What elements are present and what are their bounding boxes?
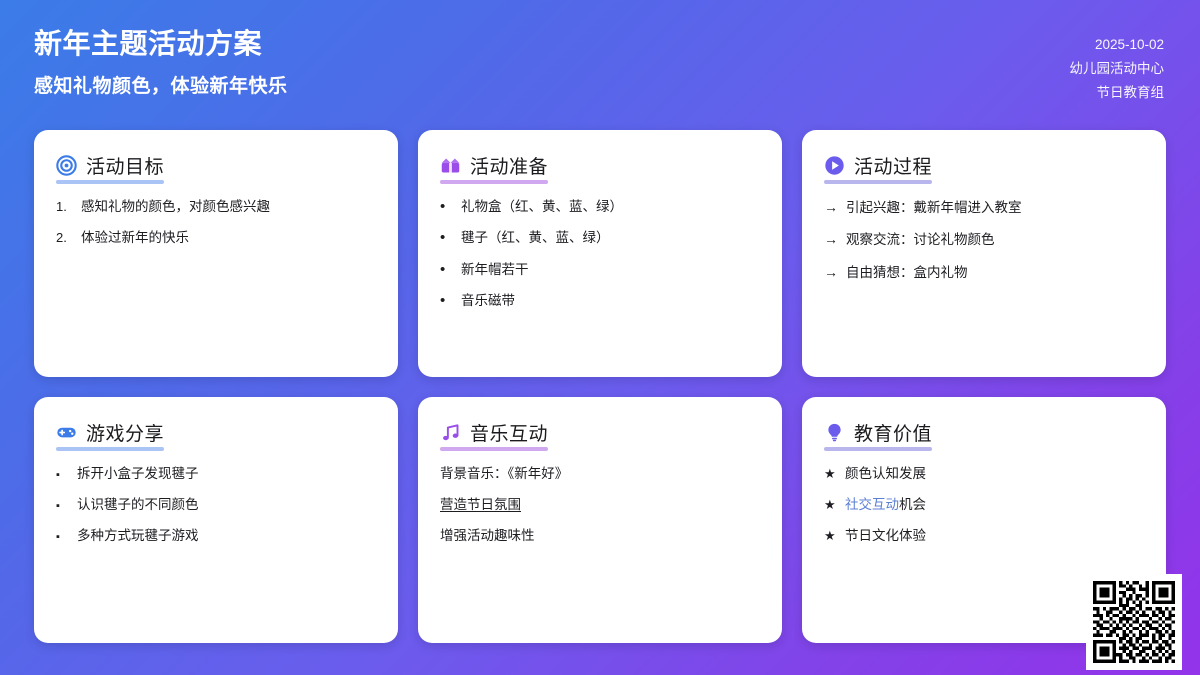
list-item-text: 感知礼物的颜色，对颜色感兴趣 <box>81 197 376 217</box>
card-title: 音乐互动 <box>470 419 548 446</box>
music-note-icon <box>440 422 461 443</box>
play-circle-icon <box>824 155 845 176</box>
list-item: 1.感知礼物的颜色，对颜色感兴趣 <box>56 197 376 217</box>
card-header: 活动准备 <box>440 152 548 184</box>
list-marker: • <box>440 230 453 245</box>
list-item: ▪认识毽子的不同颜色 <box>56 495 376 515</box>
list-item: 增强活动趣味性 <box>440 526 760 546</box>
lightbulb-icon <box>824 422 845 443</box>
list-item: •新年帽若干 <box>440 260 760 280</box>
list-marker: → <box>824 229 838 250</box>
qr-code[interactable] <box>1093 581 1175 663</box>
list-item-text: 礼物盒（红、黄、蓝、绿） <box>461 197 760 217</box>
list-item: •毽子（红、黄、蓝、绿） <box>440 228 760 248</box>
list-marker: 2. <box>56 228 73 248</box>
card-grid: 活动目标1.感知礼物的颜色，对颜色感兴趣2.体验过新年的快乐活动准备•礼物盒（红… <box>0 130 1200 675</box>
list-item-text: 拆开小盒子发现毽子 <box>77 464 376 484</box>
list-marker: → <box>824 262 838 283</box>
list-marker: ▪ <box>56 498 69 515</box>
list-item: •音乐磁带 <box>440 291 760 311</box>
target-icon <box>56 155 77 176</box>
list-item-text: 社交互动机会 <box>845 495 1144 515</box>
list-item-text: 自由猜想：盒内礼物 <box>846 263 1144 283</box>
card-item-list: •礼物盒（红、黄、蓝、绿）•毽子（红、黄、蓝、绿）•新年帽若干•音乐磁带 <box>440 197 760 311</box>
list-item: →自由猜想：盒内礼物 <box>824 262 1144 283</box>
list-item-text: 认识毽子的不同颜色 <box>77 495 376 515</box>
card-title: 游戏分享 <box>86 419 164 446</box>
card-item-list: ★颜色认知发展★社交互动机会★节日文化体验 <box>824 464 1144 547</box>
card-activity-prep: 活动准备•礼物盒（红、黄、蓝、绿）•毽子（红、黄、蓝、绿）•新年帽若干•音乐磁带 <box>418 130 782 377</box>
card-title: 教育价值 <box>854 419 932 446</box>
list-item-text-tail: 机会 <box>899 497 926 512</box>
gamepad-icon <box>56 422 77 443</box>
list-item: ★颜色认知发展 <box>824 464 1144 484</box>
gift-box-icon <box>440 155 461 176</box>
page-header: 新年主题活动方案 感知礼物颜色，体验新年快乐 2025-10-02 幼儿园活动中… <box>0 0 1200 130</box>
card-header: 游戏分享 <box>56 419 164 451</box>
list-item: ▪拆开小盒子发现毽子 <box>56 464 376 484</box>
card-music-interaction: 音乐互动背景音乐：《新年好》营造节日氛围增强活动趣味性 <box>418 397 782 644</box>
card-title: 活动过程 <box>854 152 932 179</box>
list-item-text: 节日文化体验 <box>845 526 1144 546</box>
page-title: 新年主题活动方案 <box>34 26 1166 62</box>
card-header: 教育价值 <box>824 419 932 451</box>
list-item-text: 颜色认知发展 <box>845 464 1144 484</box>
list-marker: • <box>440 293 453 308</box>
card-activity-goal: 活动目标1.感知礼物的颜色，对颜色感兴趣2.体验过新年的快乐 <box>34 130 398 377</box>
card-item-list: 背景音乐：《新年好》营造节日氛围增强活动趣味性 <box>440 464 760 547</box>
card-title: 活动目标 <box>86 152 164 179</box>
list-item: •礼物盒（红、黄、蓝、绿） <box>440 197 760 217</box>
qr-code-container <box>1086 574 1182 670</box>
list-marker: ★ <box>824 464 837 484</box>
list-marker: • <box>440 262 453 277</box>
list-item-text: 增强活动趣味性 <box>440 526 760 546</box>
list-item: →引起兴趣：戴新年帽进入教室 <box>824 197 1144 218</box>
list-item: →观察交流：讨论礼物颜色 <box>824 229 1144 250</box>
list-item: ★节日文化体验 <box>824 526 1144 546</box>
card-header: 活动目标 <box>56 152 164 184</box>
card-item-list: 1.感知礼物的颜色，对颜色感兴趣2.体验过新年的快乐 <box>56 197 376 249</box>
list-item: ▪多种方式玩毽子游戏 <box>56 526 376 546</box>
list-item-text: 音乐磁带 <box>461 291 760 311</box>
list-marker: ▪ <box>56 467 69 484</box>
list-item: 营造节日氛围 <box>440 495 760 515</box>
header-meta: 2025-10-02 幼儿园活动中心 节日教育组 <box>1070 33 1165 105</box>
list-item-text: 背景音乐：《新年好》 <box>440 464 760 484</box>
list-marker: • <box>440 199 453 214</box>
meta-organization: 幼儿园活动中心 <box>1070 57 1165 81</box>
list-item-text: 新年帽若干 <box>461 260 760 280</box>
card-item-list: ▪拆开小盒子发现毽子▪认识毽子的不同颜色▪多种方式玩毽子游戏 <box>56 464 376 547</box>
list-item-text: 引起兴趣：戴新年帽进入教室 <box>846 198 1144 218</box>
meta-department: 节日教育组 <box>1070 81 1165 105</box>
card-header: 活动过程 <box>824 152 932 184</box>
list-marker: ▪ <box>56 529 69 546</box>
list-item: ★社交互动机会 <box>824 495 1144 515</box>
list-item-text: 体验过新年的快乐 <box>81 228 376 248</box>
list-item: 背景音乐：《新年好》 <box>440 464 760 484</box>
list-item-text: 多种方式玩毽子游戏 <box>77 526 376 546</box>
list-marker: → <box>824 197 838 218</box>
list-item-text: 毽子（红、黄、蓝、绿） <box>461 228 760 248</box>
inline-link[interactable]: 社交互动 <box>845 497 899 512</box>
card-item-list: →引起兴趣：戴新年帽进入教室→观察交流：讨论礼物颜色→自由猜想：盒内礼物 <box>824 197 1144 283</box>
list-item-text: 营造节日氛围 <box>440 495 760 515</box>
list-marker: ★ <box>824 526 837 546</box>
list-marker: 1. <box>56 197 73 217</box>
list-item-text: 观察交流：讨论礼物颜色 <box>846 230 1144 250</box>
card-title: 活动准备 <box>470 152 548 179</box>
meta-date: 2025-10-02 <box>1070 33 1165 57</box>
list-marker: ★ <box>824 495 837 515</box>
card-activity-process: 活动过程→引起兴趣：戴新年帽进入教室→观察交流：讨论礼物颜色→自由猜想：盒内礼物 <box>802 130 1166 377</box>
page-subtitle: 感知礼物颜色，体验新年快乐 <box>34 71 1166 98</box>
list-item: 2.体验过新年的快乐 <box>56 228 376 248</box>
card-header: 音乐互动 <box>440 419 548 451</box>
card-game-share: 游戏分享▪拆开小盒子发现毽子▪认识毽子的不同颜色▪多种方式玩毽子游戏 <box>34 397 398 644</box>
